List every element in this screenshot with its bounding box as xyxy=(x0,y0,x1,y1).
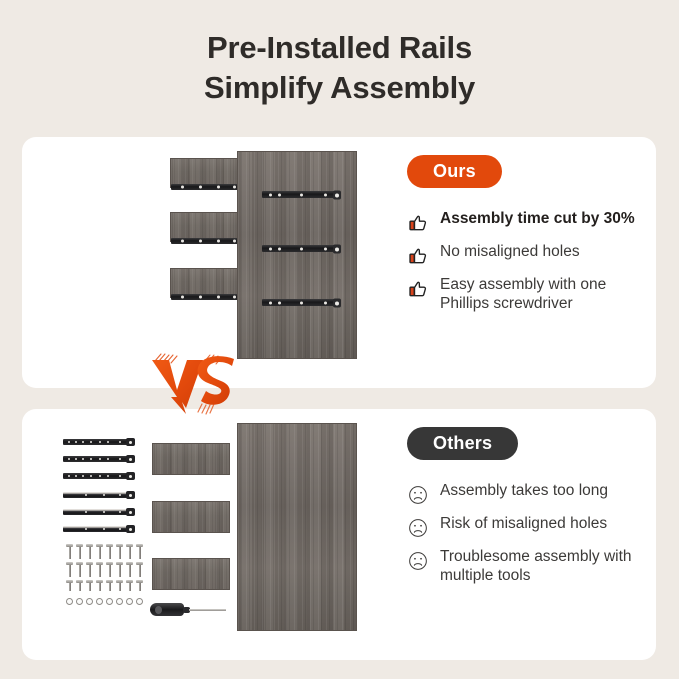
washer xyxy=(136,598,143,605)
page-title: Pre-Installed Rails Simplify Assembly xyxy=(0,28,679,107)
screw xyxy=(96,544,103,559)
list-item-label: Troublesome assembly with multiple tools xyxy=(440,548,637,586)
preinstalled-rail xyxy=(262,245,338,252)
loose-rail xyxy=(63,526,131,532)
screw xyxy=(76,562,83,577)
ours-card: Ours Assembly time cut by 30% xyxy=(22,137,656,388)
screw xyxy=(66,544,73,559)
others-bullet-list: Assembly takes too long Risk of misalign… xyxy=(407,482,637,586)
list-item-label: Assembly takes too long xyxy=(440,482,608,501)
thumbs-up-icon xyxy=(407,245,429,267)
screw xyxy=(106,580,113,591)
screw xyxy=(136,580,143,591)
screw xyxy=(106,544,113,559)
screw xyxy=(116,544,123,559)
washer xyxy=(66,598,73,605)
screw xyxy=(76,544,83,559)
list-item: Troublesome assembly with multiple tools xyxy=(407,548,637,586)
loose-rail xyxy=(63,456,131,462)
infographic-root: Pre-Installed Rails Simplify Assembly xyxy=(0,0,679,679)
sad-face-icon xyxy=(407,484,429,506)
ours-content: Ours Assembly time cut by 30% xyxy=(407,155,637,323)
screw xyxy=(96,580,103,591)
sad-face-icon xyxy=(407,517,429,539)
screw xyxy=(96,562,103,577)
loose-rail xyxy=(63,439,131,445)
list-item: Assembly time cut by 30% xyxy=(407,210,637,234)
side-panel xyxy=(237,423,357,631)
preinstalled-rail xyxy=(262,299,338,306)
thumbs-up-icon xyxy=(407,278,429,300)
washer xyxy=(116,598,123,605)
shelf-panel xyxy=(152,558,230,590)
list-item: Easy assembly with one Phillips screwdri… xyxy=(407,276,637,314)
washer xyxy=(96,598,103,605)
screw xyxy=(136,562,143,577)
others-badge: Others xyxy=(407,427,518,460)
side-panel xyxy=(237,151,357,359)
washer xyxy=(126,598,133,605)
list-item: Risk of misaligned holes xyxy=(407,515,637,539)
washer xyxy=(86,598,93,605)
shelf-panel xyxy=(152,501,230,533)
page-title-line-2: Simplify Assembly xyxy=(0,68,679,108)
list-item-label: Assembly time cut by 30% xyxy=(440,210,635,229)
ours-bullet-list: Assembly time cut by 30% No misaligned h… xyxy=(407,210,637,314)
page-title-line-1: Pre-Installed Rails xyxy=(0,28,679,68)
screw xyxy=(86,562,93,577)
screw xyxy=(66,562,73,577)
others-content: Others Assembly takes too long xyxy=(407,427,637,595)
list-item-label: Risk of misaligned holes xyxy=(440,515,607,534)
screw xyxy=(86,544,93,559)
preinstalled-rail xyxy=(262,191,338,198)
screw xyxy=(66,580,73,591)
screw xyxy=(116,580,123,591)
list-item: Assembly takes too long xyxy=(407,482,637,506)
washer xyxy=(106,598,113,605)
washer xyxy=(76,598,83,605)
screw xyxy=(126,562,133,577)
loose-rail xyxy=(63,509,131,515)
screw xyxy=(126,544,133,559)
screw xyxy=(86,580,93,591)
list-item-label: Easy assembly with one Phillips screwdri… xyxy=(440,276,637,314)
screw xyxy=(136,544,143,559)
list-item-label: No misaligned holes xyxy=(440,243,580,262)
screw xyxy=(76,580,83,591)
vs-brush-graphic: VS xyxy=(146,352,242,424)
sad-face-icon xyxy=(407,550,429,572)
thumbs-up-icon xyxy=(407,212,429,234)
shelf-panel xyxy=(152,443,230,475)
loose-rail xyxy=(63,473,131,479)
others-card: Others Assembly takes too long xyxy=(22,409,656,660)
ours-badge: Ours xyxy=(407,155,502,188)
loose-rail xyxy=(63,492,131,498)
screw xyxy=(126,580,133,591)
list-item: No misaligned holes xyxy=(407,243,637,267)
screw xyxy=(106,562,113,577)
screw xyxy=(116,562,123,577)
